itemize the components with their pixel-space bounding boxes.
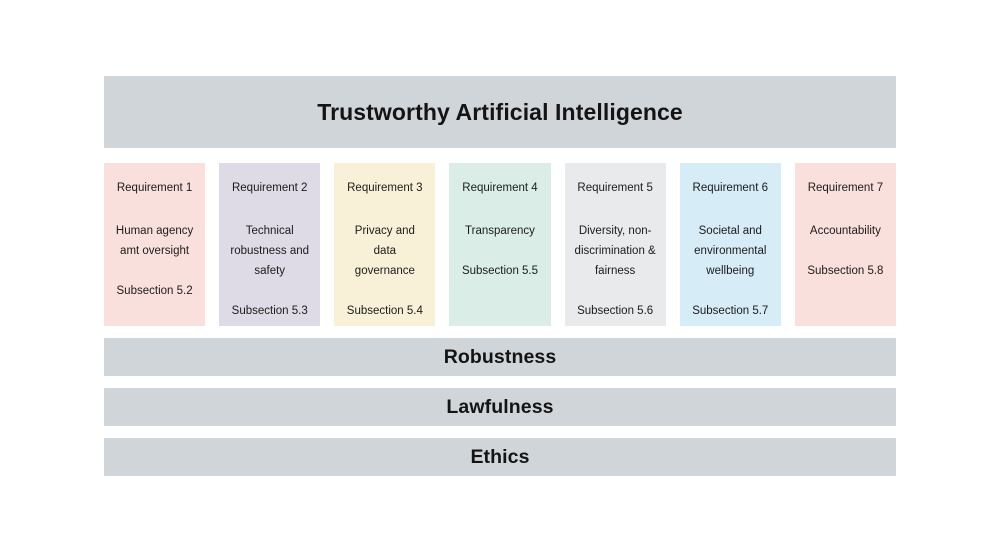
foundation-label: Robustness bbox=[444, 346, 557, 369]
foundation-bar-lawfulness: Lawfulness bbox=[104, 388, 896, 426]
requirement-card-1: Requirement 1 Human agency amt oversight… bbox=[104, 163, 205, 326]
requirement-card-4: Requirement 4 Transparency Subsection 5.… bbox=[449, 163, 550, 326]
requirement-index: Requirement 5 bbox=[577, 180, 652, 197]
requirement-title: Human agency amt oversight bbox=[112, 221, 197, 261]
requirement-title: Transparency bbox=[465, 221, 535, 241]
requirement-index: Requirement 3 bbox=[347, 180, 422, 197]
requirement-index: Requirement 7 bbox=[808, 180, 883, 197]
requirement-title: Accountability bbox=[810, 221, 881, 241]
requirement-subsection: Subsection 5.3 bbox=[232, 303, 308, 320]
requirement-subsection: Subsection 5.2 bbox=[117, 283, 193, 300]
foundation-bar-robustness: Robustness bbox=[104, 338, 896, 376]
foundation-label: Ethics bbox=[470, 446, 529, 469]
requirement-card-5: Requirement 5 Diversity, non-discriminat… bbox=[565, 163, 666, 326]
requirement-index: Requirement 6 bbox=[693, 180, 768, 197]
requirement-index: Requirement 1 bbox=[117, 180, 192, 197]
requirement-title: Societal and environmental wellbeing bbox=[688, 221, 773, 281]
page-title: Trustworthy Artificial Intelligence bbox=[317, 99, 683, 126]
requirement-subsection: Subsection 5.8 bbox=[807, 263, 883, 280]
requirements-row: Requirement 1 Human agency amt oversight… bbox=[104, 163, 896, 326]
diagram-header-banner: Trustworthy Artificial Intelligence bbox=[104, 76, 896, 148]
requirement-title: Diversity, non-discrimination & fairness bbox=[573, 221, 658, 281]
trustworthy-ai-diagram: Trustworthy Artificial Intelligence Requ… bbox=[104, 76, 896, 476]
requirement-card-3: Requirement 3 Privacy and data governanc… bbox=[334, 163, 435, 326]
requirement-subsection: Subsection 5.4 bbox=[347, 303, 423, 320]
requirement-subsection: Subsection 5.6 bbox=[577, 303, 653, 320]
requirement-index: Requirement 4 bbox=[462, 180, 537, 197]
foundation-label: Lawfulness bbox=[446, 396, 553, 419]
foundation-bar-ethics: Ethics bbox=[104, 438, 896, 476]
requirement-subsection: Subsection 5.5 bbox=[462, 263, 538, 280]
requirement-card-2: Requirement 2 Technical robustness and s… bbox=[219, 163, 320, 326]
requirement-index: Requirement 2 bbox=[232, 180, 307, 197]
requirement-card-6: Requirement 6 Societal and environmental… bbox=[680, 163, 781, 326]
requirement-subsection: Subsection 5.7 bbox=[692, 303, 768, 320]
requirement-card-7: Requirement 7 Accountability Subsection … bbox=[795, 163, 896, 326]
requirement-title: Technical robustness and safety bbox=[227, 221, 312, 281]
requirement-title: Privacy and data governance bbox=[342, 221, 427, 281]
